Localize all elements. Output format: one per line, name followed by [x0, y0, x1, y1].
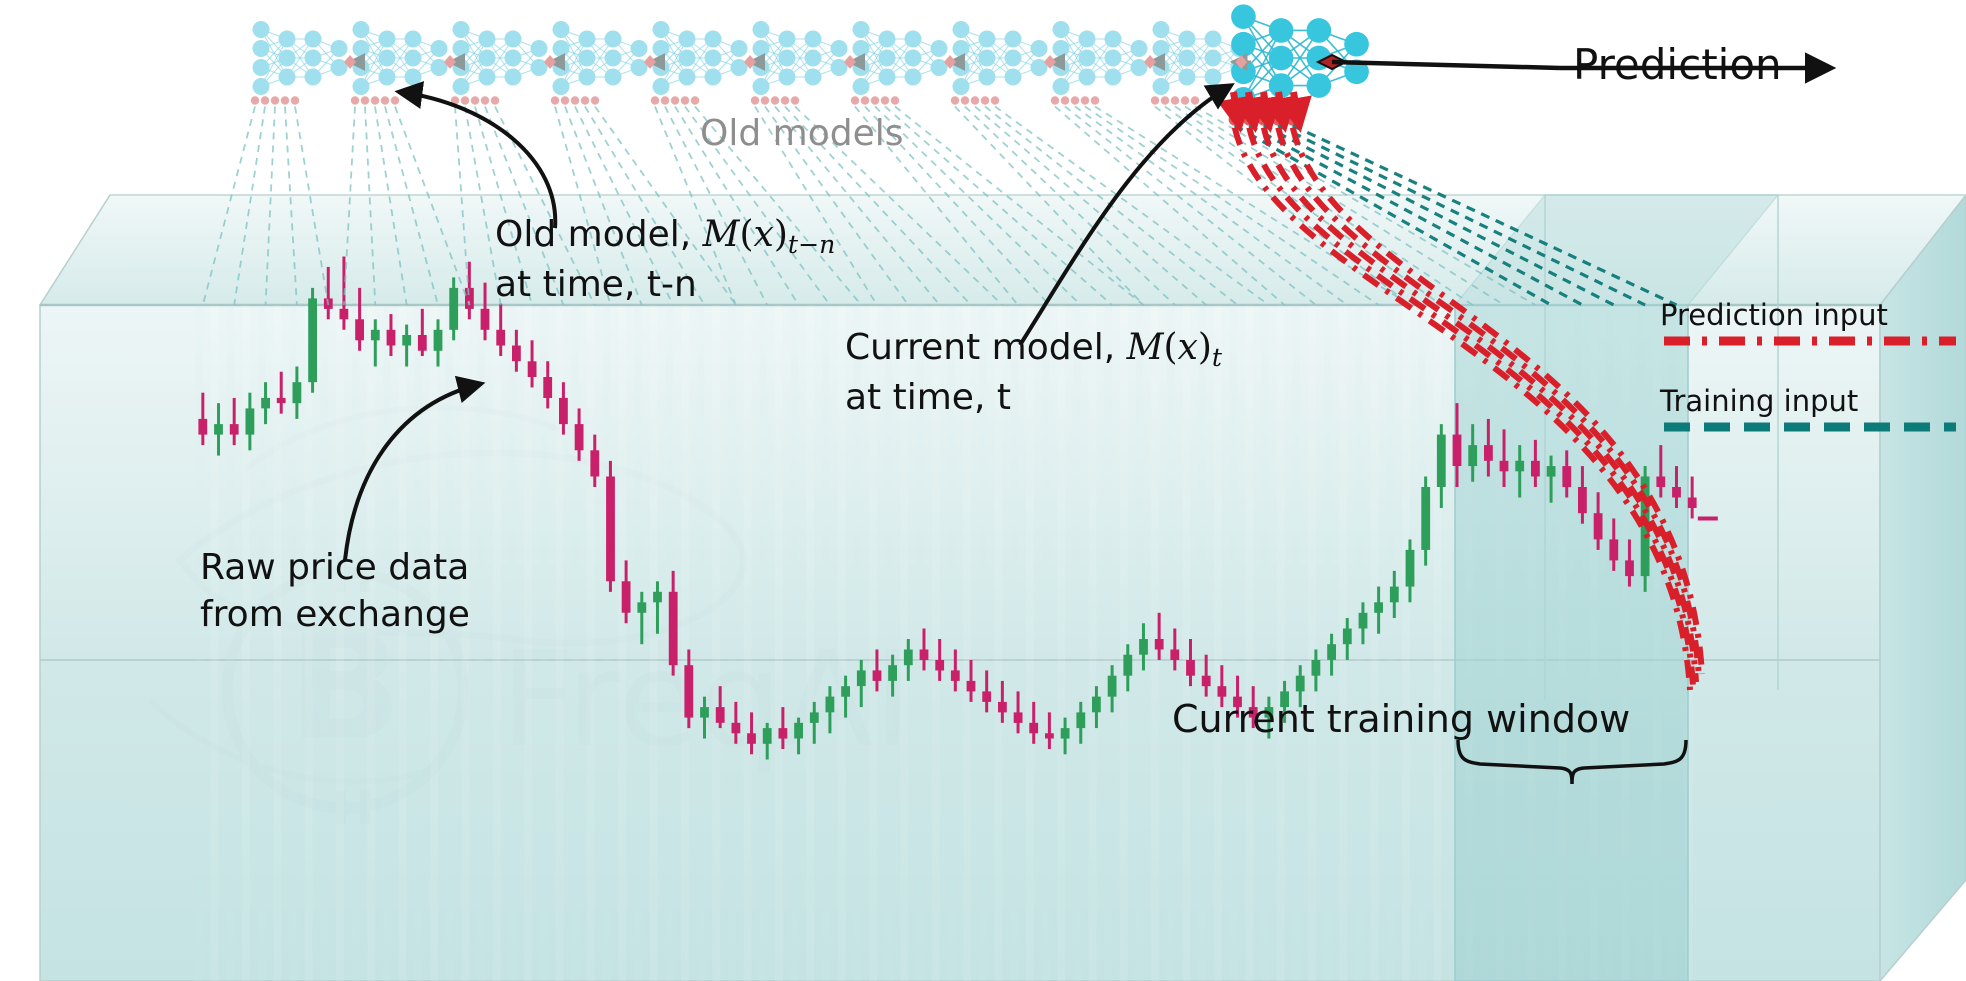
network-neuron	[753, 40, 770, 57]
network-neuron	[1179, 31, 1196, 48]
candle-body	[716, 707, 725, 723]
candle-body	[1202, 676, 1211, 687]
candle-body	[214, 424, 223, 435]
candle-body	[1609, 539, 1618, 560]
candle-body	[826, 697, 835, 713]
candle-body	[528, 361, 537, 377]
network-input-dot	[371, 96, 379, 104]
candle-body	[1186, 660, 1195, 676]
network-input-dot	[561, 96, 569, 104]
legend-label-training-input: Training input	[1660, 384, 1960, 418]
network-neuron	[653, 40, 670, 57]
network-neuron	[605, 69, 622, 86]
candle-body	[1578, 487, 1587, 513]
network-input-dot	[591, 96, 599, 104]
current-model-math-close: )	[1198, 327, 1212, 368]
network-neuron	[953, 78, 970, 95]
network-input-dot	[791, 96, 799, 104]
candle-body	[1625, 560, 1634, 576]
network-neuron	[605, 31, 622, 48]
candle-body	[732, 723, 741, 734]
network-input-dot	[1191, 96, 1199, 104]
candle-body	[355, 319, 364, 340]
old-model-line2: at time, t-n	[495, 262, 835, 309]
network-neuron	[605, 50, 622, 67]
candle-body	[1045, 733, 1054, 738]
network-neuron	[853, 21, 870, 38]
network-neuron	[753, 21, 770, 38]
network-neuron	[1179, 69, 1196, 86]
network-neuron	[253, 40, 270, 57]
old-model-math-sub: t−n	[788, 230, 835, 259]
candle-body	[434, 330, 443, 351]
candle-body	[559, 398, 568, 424]
network-input-dot	[771, 96, 779, 104]
network-neuron	[1005, 31, 1022, 48]
network-input-dot	[581, 96, 589, 104]
network-input-dot	[691, 96, 699, 104]
network-neuron	[305, 31, 322, 48]
network-neuron	[1179, 50, 1196, 67]
candle-body	[841, 686, 850, 697]
network-neuron	[1053, 21, 1070, 38]
network-neuron	[505, 50, 522, 67]
network-neuron	[405, 50, 422, 67]
candle-body	[998, 702, 1007, 713]
candle-body	[700, 707, 709, 718]
network-input-dot	[781, 96, 789, 104]
candle-body	[1218, 686, 1227, 697]
network-input-dot	[1061, 96, 1069, 104]
network-neuron	[1005, 69, 1022, 86]
candle-body	[1014, 712, 1023, 723]
network-neuron	[705, 69, 722, 86]
candle-body	[951, 670, 960, 681]
candle-body	[1515, 461, 1524, 472]
network-neuron	[1269, 18, 1294, 43]
candle-body	[1484, 445, 1493, 461]
network-neuron	[653, 78, 670, 95]
network-neuron	[1205, 69, 1222, 86]
candle-body	[402, 335, 411, 346]
current-model-text: Current model,	[845, 327, 1127, 368]
raw-price-line2: from exchange	[200, 592, 470, 639]
candle-body	[230, 424, 239, 435]
network-neuron	[253, 21, 270, 38]
candle-body	[888, 665, 897, 681]
network-neuron	[505, 69, 522, 86]
network-neuron	[705, 50, 722, 67]
current-model-line2: at time, t	[845, 375, 1222, 422]
candle-body	[1562, 466, 1571, 487]
old-model-math-open: (	[740, 214, 754, 255]
network-neuron	[353, 78, 370, 95]
candle-body	[1359, 613, 1368, 629]
candle-body	[967, 681, 976, 692]
candle-body	[1029, 723, 1038, 734]
network-neuron	[353, 21, 370, 38]
network-neuron	[279, 50, 296, 67]
network-input-dot	[871, 96, 879, 104]
old-model-math-M: M	[703, 214, 740, 255]
candle-body	[779, 728, 788, 739]
candle-body	[1421, 487, 1430, 550]
network-neuron	[1053, 78, 1070, 95]
candle-body	[857, 670, 866, 686]
old-models-label: Old models	[700, 113, 903, 154]
candle-body	[669, 592, 678, 665]
network-neuron	[1079, 31, 1096, 48]
legend-item-prediction-input: Prediction input	[1660, 298, 1960, 354]
network-neuron	[1344, 32, 1369, 57]
candle-body	[935, 660, 944, 671]
legend-swatch-training-input	[1660, 418, 1960, 436]
network-neuron	[279, 69, 296, 86]
current-model-math-x: x	[1178, 327, 1198, 368]
network-neuron	[1053, 40, 1070, 57]
candle-body	[590, 450, 599, 476]
current-model-math-open: (	[1164, 327, 1178, 368]
candle-body	[622, 581, 631, 612]
candle-body	[1437, 435, 1446, 487]
annotation-current-model: Current model, M(x)t at time, t	[845, 325, 1222, 422]
candle-body	[371, 330, 380, 341]
network-neuron	[453, 78, 470, 95]
candle-body	[449, 288, 458, 330]
candle-body	[1468, 445, 1477, 466]
network-neuron	[705, 31, 722, 48]
network-input-dot	[1181, 96, 1189, 104]
network-neuron	[853, 78, 870, 95]
network-input-dot	[551, 96, 559, 104]
candle-body	[1453, 435, 1462, 466]
network-neuron	[379, 69, 396, 86]
candle-body	[1092, 697, 1101, 713]
candle-body	[512, 346, 521, 362]
network-input-dot	[991, 96, 999, 104]
candle-body	[543, 377, 552, 398]
legend-item-training-input: Training input	[1660, 384, 1960, 440]
prediction-label: Prediction	[1573, 40, 1782, 89]
candle-body	[904, 650, 913, 666]
network-input-dot	[461, 96, 469, 104]
network-neuron	[753, 78, 770, 95]
network-input-dot	[1081, 96, 1089, 104]
candle-body	[1656, 477, 1665, 488]
candle-body	[1500, 461, 1509, 472]
candle-body	[340, 309, 349, 320]
raw-price-line1: Raw price data	[200, 545, 470, 592]
network-neuron	[479, 50, 496, 67]
network-neuron	[305, 50, 322, 67]
network-neuron	[531, 40, 548, 57]
candle-body	[198, 419, 207, 435]
network-neuron	[779, 31, 796, 48]
candle-body	[1139, 639, 1148, 655]
current-model-math-M: M	[1127, 327, 1164, 368]
network-neuron	[1153, 78, 1170, 95]
network-input-dot	[971, 96, 979, 104]
network-neuron	[953, 21, 970, 38]
network-input-dot	[481, 96, 489, 104]
network-input-dot	[1151, 96, 1159, 104]
network-input-dot	[751, 96, 759, 104]
network-neuron	[353, 40, 370, 57]
candle-body	[246, 408, 255, 434]
network-neuron	[1079, 50, 1096, 67]
network-neuron	[453, 40, 470, 57]
network-neuron	[479, 69, 496, 86]
network-neuron	[805, 69, 822, 86]
network-neuron	[579, 50, 596, 67]
network-neuron	[1153, 21, 1170, 38]
current-training-window-label: Current training window	[1172, 697, 1630, 741]
network-neuron	[979, 31, 996, 48]
candle-body	[387, 330, 396, 346]
network-input-dot	[671, 96, 679, 104]
candle-body	[873, 670, 882, 681]
network-input-dot	[251, 96, 259, 104]
network-neuron	[405, 69, 422, 86]
network-input-dot	[951, 96, 959, 104]
candle-body	[481, 309, 490, 330]
legend-label-prediction-input: Prediction input	[1660, 298, 1960, 332]
candle-body	[1076, 712, 1085, 728]
candle-body	[418, 335, 427, 351]
candle-body	[747, 733, 756, 744]
candle-body	[1296, 676, 1305, 692]
network-neuron	[831, 40, 848, 57]
candle-body	[684, 665, 693, 717]
network-neuron	[1105, 50, 1122, 67]
network-neuron	[905, 31, 922, 48]
network-input-dot	[291, 96, 299, 104]
network-neuron	[331, 40, 348, 57]
network-neuron	[479, 31, 496, 48]
network-input-dot	[271, 96, 279, 104]
legend: Prediction input Training input	[1660, 298, 1960, 448]
candle-body	[293, 382, 302, 403]
candle-body	[1406, 550, 1415, 587]
candle-body	[1343, 629, 1352, 645]
candle-body	[1327, 644, 1336, 660]
candle-body	[1531, 461, 1540, 477]
network-neuron	[879, 31, 896, 48]
candle-body	[308, 298, 317, 382]
candle-body	[1108, 676, 1117, 697]
candle-body	[794, 723, 803, 739]
candle-body	[653, 592, 662, 603]
candle-body	[1170, 650, 1179, 661]
network-neuron	[553, 40, 570, 57]
network-input-dot	[1091, 96, 1099, 104]
candle-body	[1312, 660, 1321, 676]
network-neuron	[905, 50, 922, 67]
network-neuron	[1131, 40, 1148, 57]
candle-body	[637, 602, 646, 613]
network-neuron	[979, 69, 996, 86]
figure-canvas: B FreqAI	[0, 0, 1966, 981]
network-input-dot	[1071, 96, 1079, 104]
candle-body	[920, 650, 929, 661]
network-input-dot	[891, 96, 899, 104]
network-neuron	[253, 78, 270, 95]
network-input-dot	[361, 96, 369, 104]
candle-body	[1061, 728, 1070, 739]
network-neuron	[1231, 32, 1256, 57]
network-neuron	[1105, 69, 1122, 86]
network-neuron	[1307, 73, 1332, 98]
network-neuron	[579, 69, 596, 86]
old-model-math-close: )	[774, 214, 788, 255]
network-neuron	[731, 40, 748, 57]
old-model-text: Old model,	[495, 214, 703, 255]
network-neuron	[379, 31, 396, 48]
network-neuron	[1153, 40, 1170, 57]
candle-body	[1123, 655, 1132, 676]
network-input-dot	[861, 96, 869, 104]
candle-body	[606, 477, 615, 582]
network-input-dot	[651, 96, 659, 104]
network-neuron	[953, 40, 970, 57]
network-neuron	[1269, 46, 1294, 71]
network-neuron	[431, 40, 448, 57]
network-neuron	[405, 31, 422, 48]
network-neuron	[805, 31, 822, 48]
annotation-raw-price: Raw price data from exchange	[200, 545, 470, 639]
old-model-math-x: x	[754, 214, 774, 255]
network-neuron	[305, 69, 322, 86]
network-input-dot	[981, 96, 989, 104]
candle-body	[465, 288, 474, 309]
network-neuron	[779, 69, 796, 86]
candle-body	[277, 398, 286, 403]
candle-body	[763, 728, 772, 744]
network-input-dot	[661, 96, 669, 104]
network-neuron	[1005, 50, 1022, 67]
network-input-dot	[381, 96, 389, 104]
diagram-svg: B FreqAI	[0, 0, 1966, 981]
network-neuron	[505, 31, 522, 48]
network-neuron	[853, 40, 870, 57]
network-neuron	[379, 50, 396, 67]
candle-body	[1374, 602, 1383, 613]
network-input-dot	[1161, 96, 1169, 104]
network-input-dot	[471, 96, 479, 104]
network-neuron	[653, 21, 670, 38]
network-neuron	[453, 21, 470, 38]
network-neuron	[631, 40, 648, 57]
network-input-dot	[491, 96, 499, 104]
network-neuron	[579, 31, 596, 48]
network-neuron	[779, 50, 796, 67]
network-neuron	[805, 50, 822, 67]
candle-body	[1594, 513, 1603, 539]
candle-body	[496, 330, 505, 346]
candle-body	[261, 398, 270, 409]
network-neuron	[253, 59, 270, 76]
network-neuron	[1031, 40, 1048, 57]
network-input-dot	[261, 96, 269, 104]
network-input-dot	[761, 96, 769, 104]
network-neuron	[679, 69, 696, 86]
network-neuron	[553, 21, 570, 38]
network-neuron	[879, 69, 896, 86]
network-input-dot	[961, 96, 969, 104]
network-neuron	[1307, 18, 1332, 43]
network-neuron	[879, 50, 896, 67]
network-input-dot	[881, 96, 889, 104]
network-neuron	[1231, 4, 1256, 29]
network-neuron	[279, 31, 296, 48]
network-input-dot	[391, 96, 399, 104]
candle-body	[1688, 498, 1697, 509]
network-input-dot	[681, 96, 689, 104]
network-neuron	[979, 50, 996, 67]
network-input-dot	[281, 96, 289, 104]
current-model-math-sub: t	[1212, 343, 1222, 372]
network-neuron	[553, 78, 570, 95]
candle-body	[1155, 639, 1164, 650]
network-neuron	[931, 40, 948, 57]
network-neuron	[1205, 50, 1222, 67]
network-neuron	[1079, 69, 1096, 86]
network-neuron	[679, 50, 696, 67]
candle-body	[810, 712, 819, 723]
network-input-dot	[1171, 96, 1179, 104]
annotation-old-model: Old model, M(x)t−n at time, t-n	[495, 212, 835, 309]
network-neuron	[1205, 31, 1222, 48]
network-input-dot	[351, 96, 359, 104]
candle-body	[1547, 466, 1556, 477]
network-neuron	[679, 31, 696, 48]
network-input-dot	[851, 96, 859, 104]
network-input-dot	[1051, 96, 1059, 104]
candle-body	[1390, 587, 1399, 603]
network-input-dot	[571, 96, 579, 104]
candle-body	[982, 691, 991, 702]
candle-body	[1672, 487, 1681, 498]
candle-body	[575, 424, 584, 450]
legend-swatch-prediction-input	[1660, 332, 1960, 350]
network-neuron	[1105, 31, 1122, 48]
network-neuron	[905, 69, 922, 86]
